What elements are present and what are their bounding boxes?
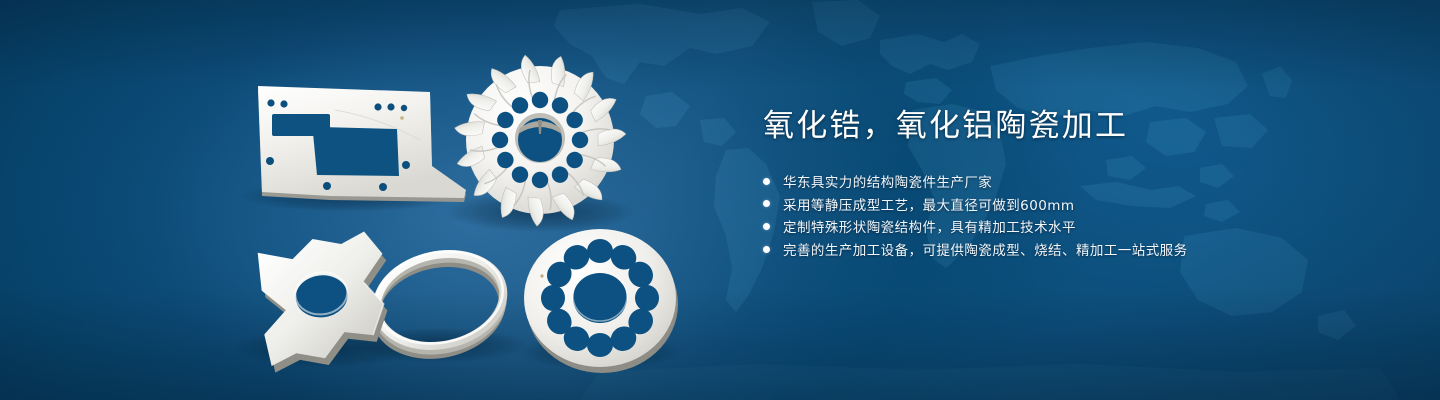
bullet-dot-icon <box>763 223 770 230</box>
feature-item-4-label: 完善的生产加工设备，可提供陶瓷成型、烧结、精加工一站式服务 <box>783 239 1188 259</box>
feature-item-1-label: 华东具实力的结构陶瓷件生产厂家 <box>783 171 992 191</box>
feature-item-3-label: 定制特殊形状陶瓷结构件，具有精加工技术水平 <box>783 216 1076 236</box>
ceramic-plate-image <box>258 86 466 202</box>
feature-item-1: 华东具实力的结构陶瓷件生产厂家 <box>763 170 1323 193</box>
banner-copy: 氧化锆，氧化铝陶瓷加工 华东具实力的结构陶瓷件生产厂家 采用等静压成型工艺，最大… <box>763 104 1323 260</box>
ceramic-perforated-disc-image <box>524 229 678 373</box>
bullet-dot-icon <box>763 178 770 185</box>
bullet-dot-icon <box>763 200 770 207</box>
feature-list: 华东具实力的结构陶瓷件生产厂家 采用等静压成型工艺，最大直径可做到600mm 定… <box>763 170 1323 260</box>
feature-item-4: 完善的生产加工设备，可提供陶瓷成型、烧结、精加工一站式服务 <box>763 238 1323 261</box>
bullet-dot-icon <box>763 246 770 253</box>
feature-item-2-label: 采用等静压成型工艺，最大直径可做到600mm <box>783 194 1074 214</box>
feature-item-3: 定制特殊形状陶瓷结构件，具有精加工技术水平 <box>763 215 1323 238</box>
feature-item-2: 采用等静压成型工艺，最大直径可做到600mm <box>763 193 1323 216</box>
product-showcase <box>0 0 740 400</box>
hero-banner: 氧化锆，氧化铝陶瓷加工 华东具实力的结构陶瓷件生产厂家 采用等静压成型工艺，最大… <box>0 0 1440 400</box>
banner-headline: 氧化锆，氧化铝陶瓷加工 <box>763 104 1323 148</box>
